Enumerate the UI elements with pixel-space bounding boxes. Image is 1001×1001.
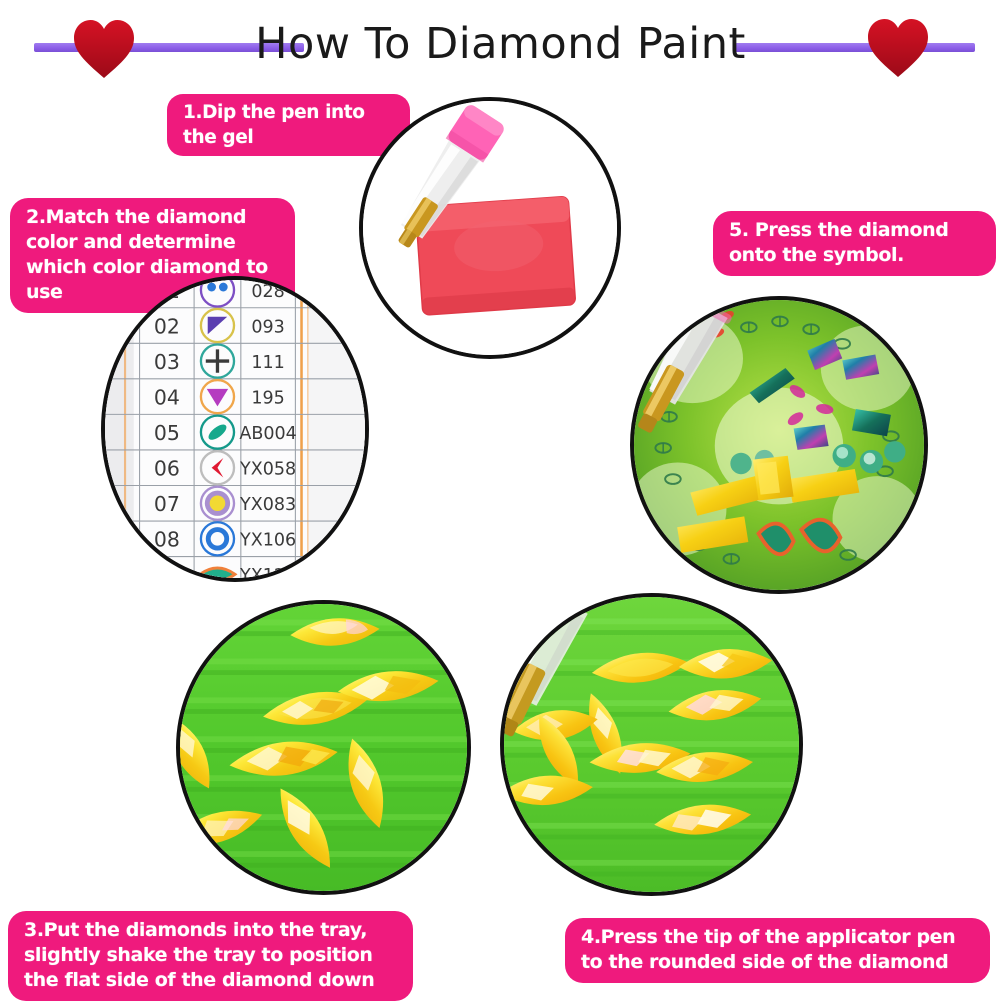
svg-text:05: 05 (154, 421, 180, 445)
svg-text:093: 093 (251, 317, 284, 337)
svg-text:02: 02 (154, 314, 180, 338)
svg-text:111: 111 (251, 353, 284, 373)
page-title: How To Diamond Paint (0, 16, 1001, 72)
pen-dipping-into-pink-gel-photo (359, 97, 621, 359)
svg-text:09: 09 (154, 563, 180, 578)
svg-text:04: 04 (154, 385, 180, 409)
step-3-label: 3.Put the diamonds into the tray, slight… (8, 911, 413, 1001)
svg-text:YX083: YX083 (239, 495, 296, 515)
pen-picking-up-diamond-photo (500, 593, 803, 896)
color-symbol-chart-photo: 0102802093031110419505AB00406YX05807YX08… (101, 276, 369, 582)
svg-text:YX058: YX058 (239, 460, 296, 480)
step-5-label: 5. Press the diamond onto the symbol. (713, 211, 996, 276)
step-1-label: 1.Dip the pen into the gel (167, 94, 410, 156)
svg-text:028: 028 (251, 282, 284, 302)
svg-text:YX125: YX125 (239, 566, 296, 578)
svg-text:08: 08 (154, 528, 180, 552)
infographic-canvas: How To Diamond Paint 1.Dip the pen into … (0, 0, 1001, 1001)
pressing-diamond-onto-canvas-photo (630, 296, 928, 594)
svg-text:06: 06 (154, 457, 180, 481)
svg-text:195: 195 (251, 388, 284, 408)
yellow-diamonds-in-green-tray-photo (176, 600, 471, 895)
svg-text:AB004: AB004 (239, 424, 296, 444)
svg-text:YX106: YX106 (239, 531, 296, 551)
svg-text:07: 07 (154, 492, 180, 516)
svg-text:03: 03 (154, 350, 180, 374)
step-4-label: 4.Press the tip of the applicator pen to… (565, 918, 990, 983)
